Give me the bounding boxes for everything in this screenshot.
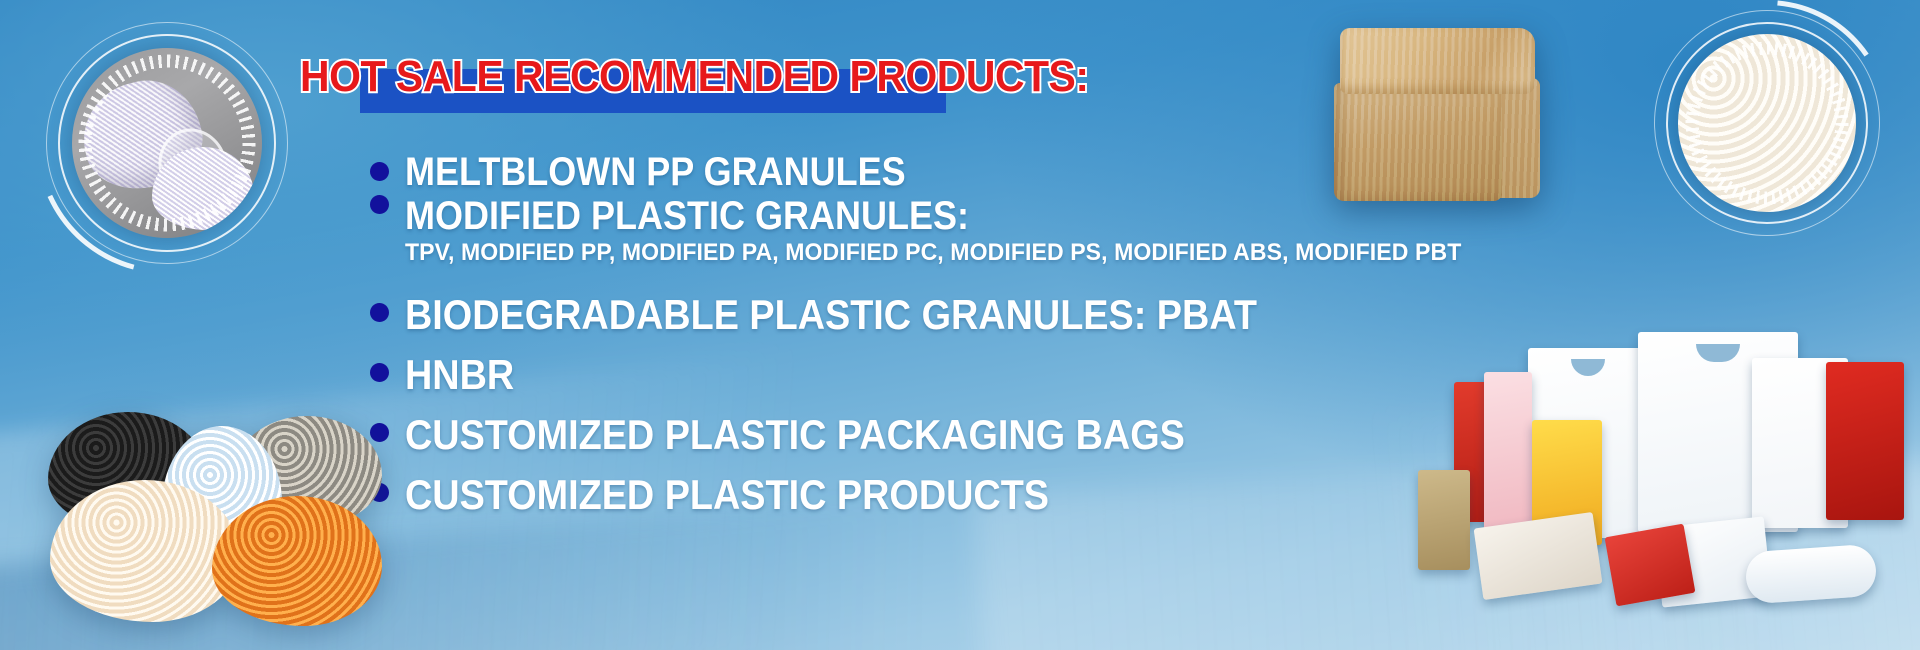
list-item-modified-plastic-sub: TPV, MODIFIED PP, MODIFIED PA, MODIFIED … [405,238,1461,268]
colored-granule-piles-photo [22,410,382,630]
promotional-banner: HOT SALE RECOMMENDED PRODUCTS: MELTBLOWN… [0,0,1920,650]
list-item-meltblown-pp: MELTBLOWN PP GRANULES [405,150,1395,194]
packaging-bag-red-promo [1826,362,1904,520]
list-item-group-granules: MELTBLOWN PP GRANULES MODIFIED PLASTIC G… [370,150,1470,268]
bullet-icon [370,162,389,181]
white-pbat-granules-photo [1652,8,1882,238]
granule-pile-cream [50,480,240,622]
list-item-biodegradable: BIODEGRADABLE PLASTIC GRANULES: PBAT [370,290,1470,340]
list-item-label: CUSTOMIZED PLASTIC PRODUCTS [405,470,1049,520]
plastic-granules-bag-photo [42,18,292,268]
product-list: MELTBLOWN PP GRANULES MODIFIED PLASTIC G… [370,150,1470,520]
packaging-pouch-wine [1484,372,1532,537]
list-item-label: CUSTOMIZED PLASTIC PACKAGING BAGS [405,410,1185,460]
packaging-sheet-stack [1474,512,1603,600]
list-item-label: HNBR [405,350,514,400]
bullet-icon [370,303,389,322]
list-item-label: BIODEGRADABLE PLASTIC GRANULES: PBAT [405,290,1257,340]
list-item-modified-plastic: MODIFIED PLASTIC GRANULES: [405,194,1395,238]
list-item-hnbr: HNBR [370,350,1470,400]
packaging-film-roll [1744,544,1877,605]
headline-block: HOT SALE RECOMMENDED PRODUCTS: [300,55,1148,99]
bullet-icon [370,363,389,382]
bullet-pair [370,150,389,214]
packaging-products-collage [1400,330,1920,650]
page-title: HOT SALE RECOMMENDED PRODUCTS: [300,55,1089,99]
packaging-pouch-kraft [1418,470,1470,570]
list-item-packaging-bags: CUSTOMIZED PLASTIC PACKAGING BAGS [370,410,1470,460]
packaging-flat-bag-red [1605,524,1696,607]
list-item-plastic-products: CUSTOMIZED PLASTIC PRODUCTS [370,470,1470,520]
granule-pile-orange [212,496,382,626]
bullet-icon [370,195,389,214]
